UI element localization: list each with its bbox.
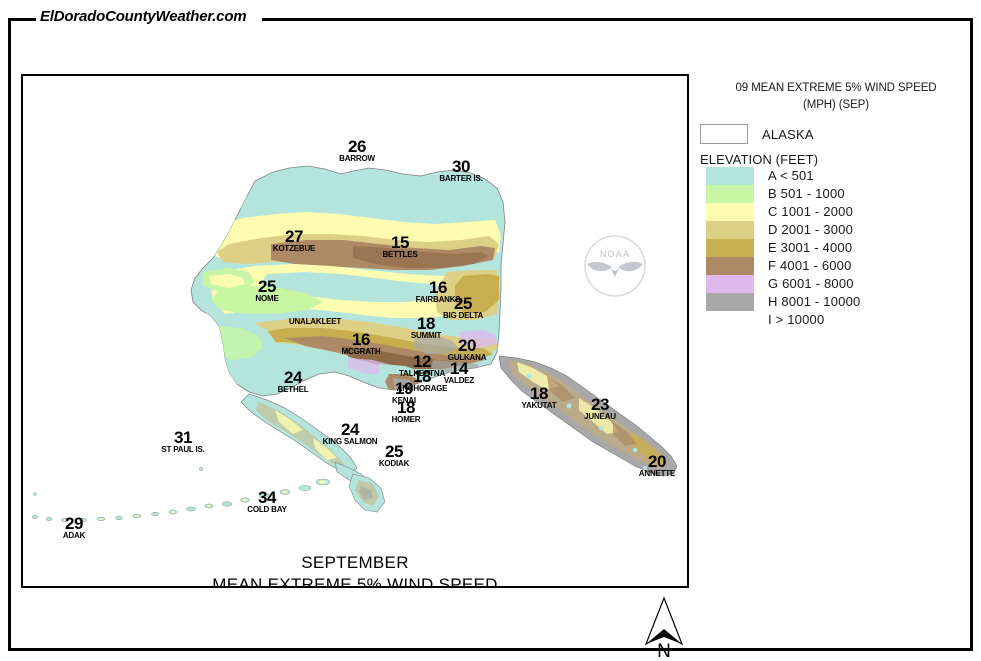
- elevation-label-f: F 4001 - 6000: [768, 257, 852, 275]
- alaska-label: ALASKA: [762, 127, 814, 142]
- alaska-boundary-swatch: [700, 124, 748, 144]
- elevation-legend-row-b: B 501 - 1000: [700, 185, 972, 203]
- aleutian-chain: [32, 394, 385, 522]
- elevation-legend-row-c: C 1001 - 2000: [700, 203, 972, 221]
- map-panel: NOAA 26BARROW30BARTER IS.27KOTZEBUE15BET…: [21, 74, 689, 588]
- map-canvas: [23, 76, 687, 586]
- elevation-swatch-b: [706, 185, 754, 203]
- legend-title-line2: (MPH) (SEP): [700, 97, 972, 114]
- map-caption-variable: MEAN EXTREME 5% WIND SPEED: [23, 574, 687, 588]
- alaska-mainland: [191, 166, 505, 402]
- elevation-legend-row-h: H 8001 - 10000: [700, 293, 972, 311]
- elevation-legend-row-e: E 3001 - 4000: [700, 239, 972, 257]
- elevation-label-h: H 8001 - 10000: [768, 293, 860, 311]
- elevation-label-g: G 6001 - 8000: [768, 275, 854, 293]
- map-caption-month: SEPTEMBER: [23, 552, 687, 574]
- site-title: ElDoradoCountyWeather.com: [40, 8, 246, 25]
- st-paul-island-dot: [199, 467, 203, 471]
- elevation-label-a: A < 501: [768, 167, 814, 185]
- alaska-map-svg: [23, 76, 687, 586]
- frame-left-edge: [8, 18, 11, 651]
- elevation-label-c: C 1001 - 2000: [768, 203, 853, 221]
- elevation-swatch-i: [706, 311, 754, 329]
- elevation-legend-list: A < 501B 501 - 1000C 1001 - 2000D 2001 -…: [700, 167, 972, 329]
- elevation-legend-row-d: D 2001 - 3000: [700, 221, 972, 239]
- elevation-swatch-f: [706, 257, 754, 275]
- elevation-swatch-g: [706, 275, 754, 293]
- elevation-label-b: B 501 - 1000: [768, 185, 845, 203]
- elevation-swatch-a: [706, 167, 754, 185]
- frame-top-right-segment: [262, 18, 973, 21]
- elevation-label-d: D 2001 - 3000: [768, 221, 853, 239]
- elevation-legend-row-i: I > 10000: [700, 311, 972, 329]
- elevation-swatch-e: [706, 239, 754, 257]
- legend-title-line1: 09 MEAN EXTREME 5% WIND SPEED: [736, 82, 937, 94]
- north-arrow: N: [636, 596, 692, 658]
- elevation-header: ELEVATION (FEET): [700, 152, 972, 167]
- frame-top-left-segment: [8, 18, 36, 21]
- noaa-logo-text: NOAA: [600, 249, 630, 259]
- legend-panel: 09 MEAN EXTREME 5% WIND SPEED (MPH) (SEP…: [700, 80, 972, 329]
- elevation-legend-row-f: F 4001 - 6000: [700, 257, 972, 275]
- elevation-swatch-d: [706, 221, 754, 239]
- map-caption: SEPTEMBER MEAN EXTREME 5% WIND SPEED: [23, 552, 687, 588]
- elevation-swatch-h: [706, 293, 754, 311]
- legend-title: 09 MEAN EXTREME 5% WIND SPEED (MPH) (SEP…: [700, 80, 972, 114]
- elevation-label-e: E 3001 - 4000: [768, 239, 852, 257]
- noaa-logo-watermark: NOAA: [579, 230, 651, 302]
- frame-bottom-edge: [8, 648, 973, 651]
- elevation-legend-row-a: A < 501: [700, 167, 972, 185]
- alaska-panhandle: [499, 356, 677, 476]
- map-page: ElDoradoCountyWeather.com: [0, 0, 981, 661]
- elevation-swatch-c: [706, 203, 754, 221]
- legend-area-row: ALASKA: [700, 124, 972, 144]
- elevation-legend-row-g: G 6001 - 8000: [700, 275, 972, 293]
- elevation-label-i: I > 10000: [768, 311, 824, 329]
- north-arrow-label: N: [657, 641, 671, 658]
